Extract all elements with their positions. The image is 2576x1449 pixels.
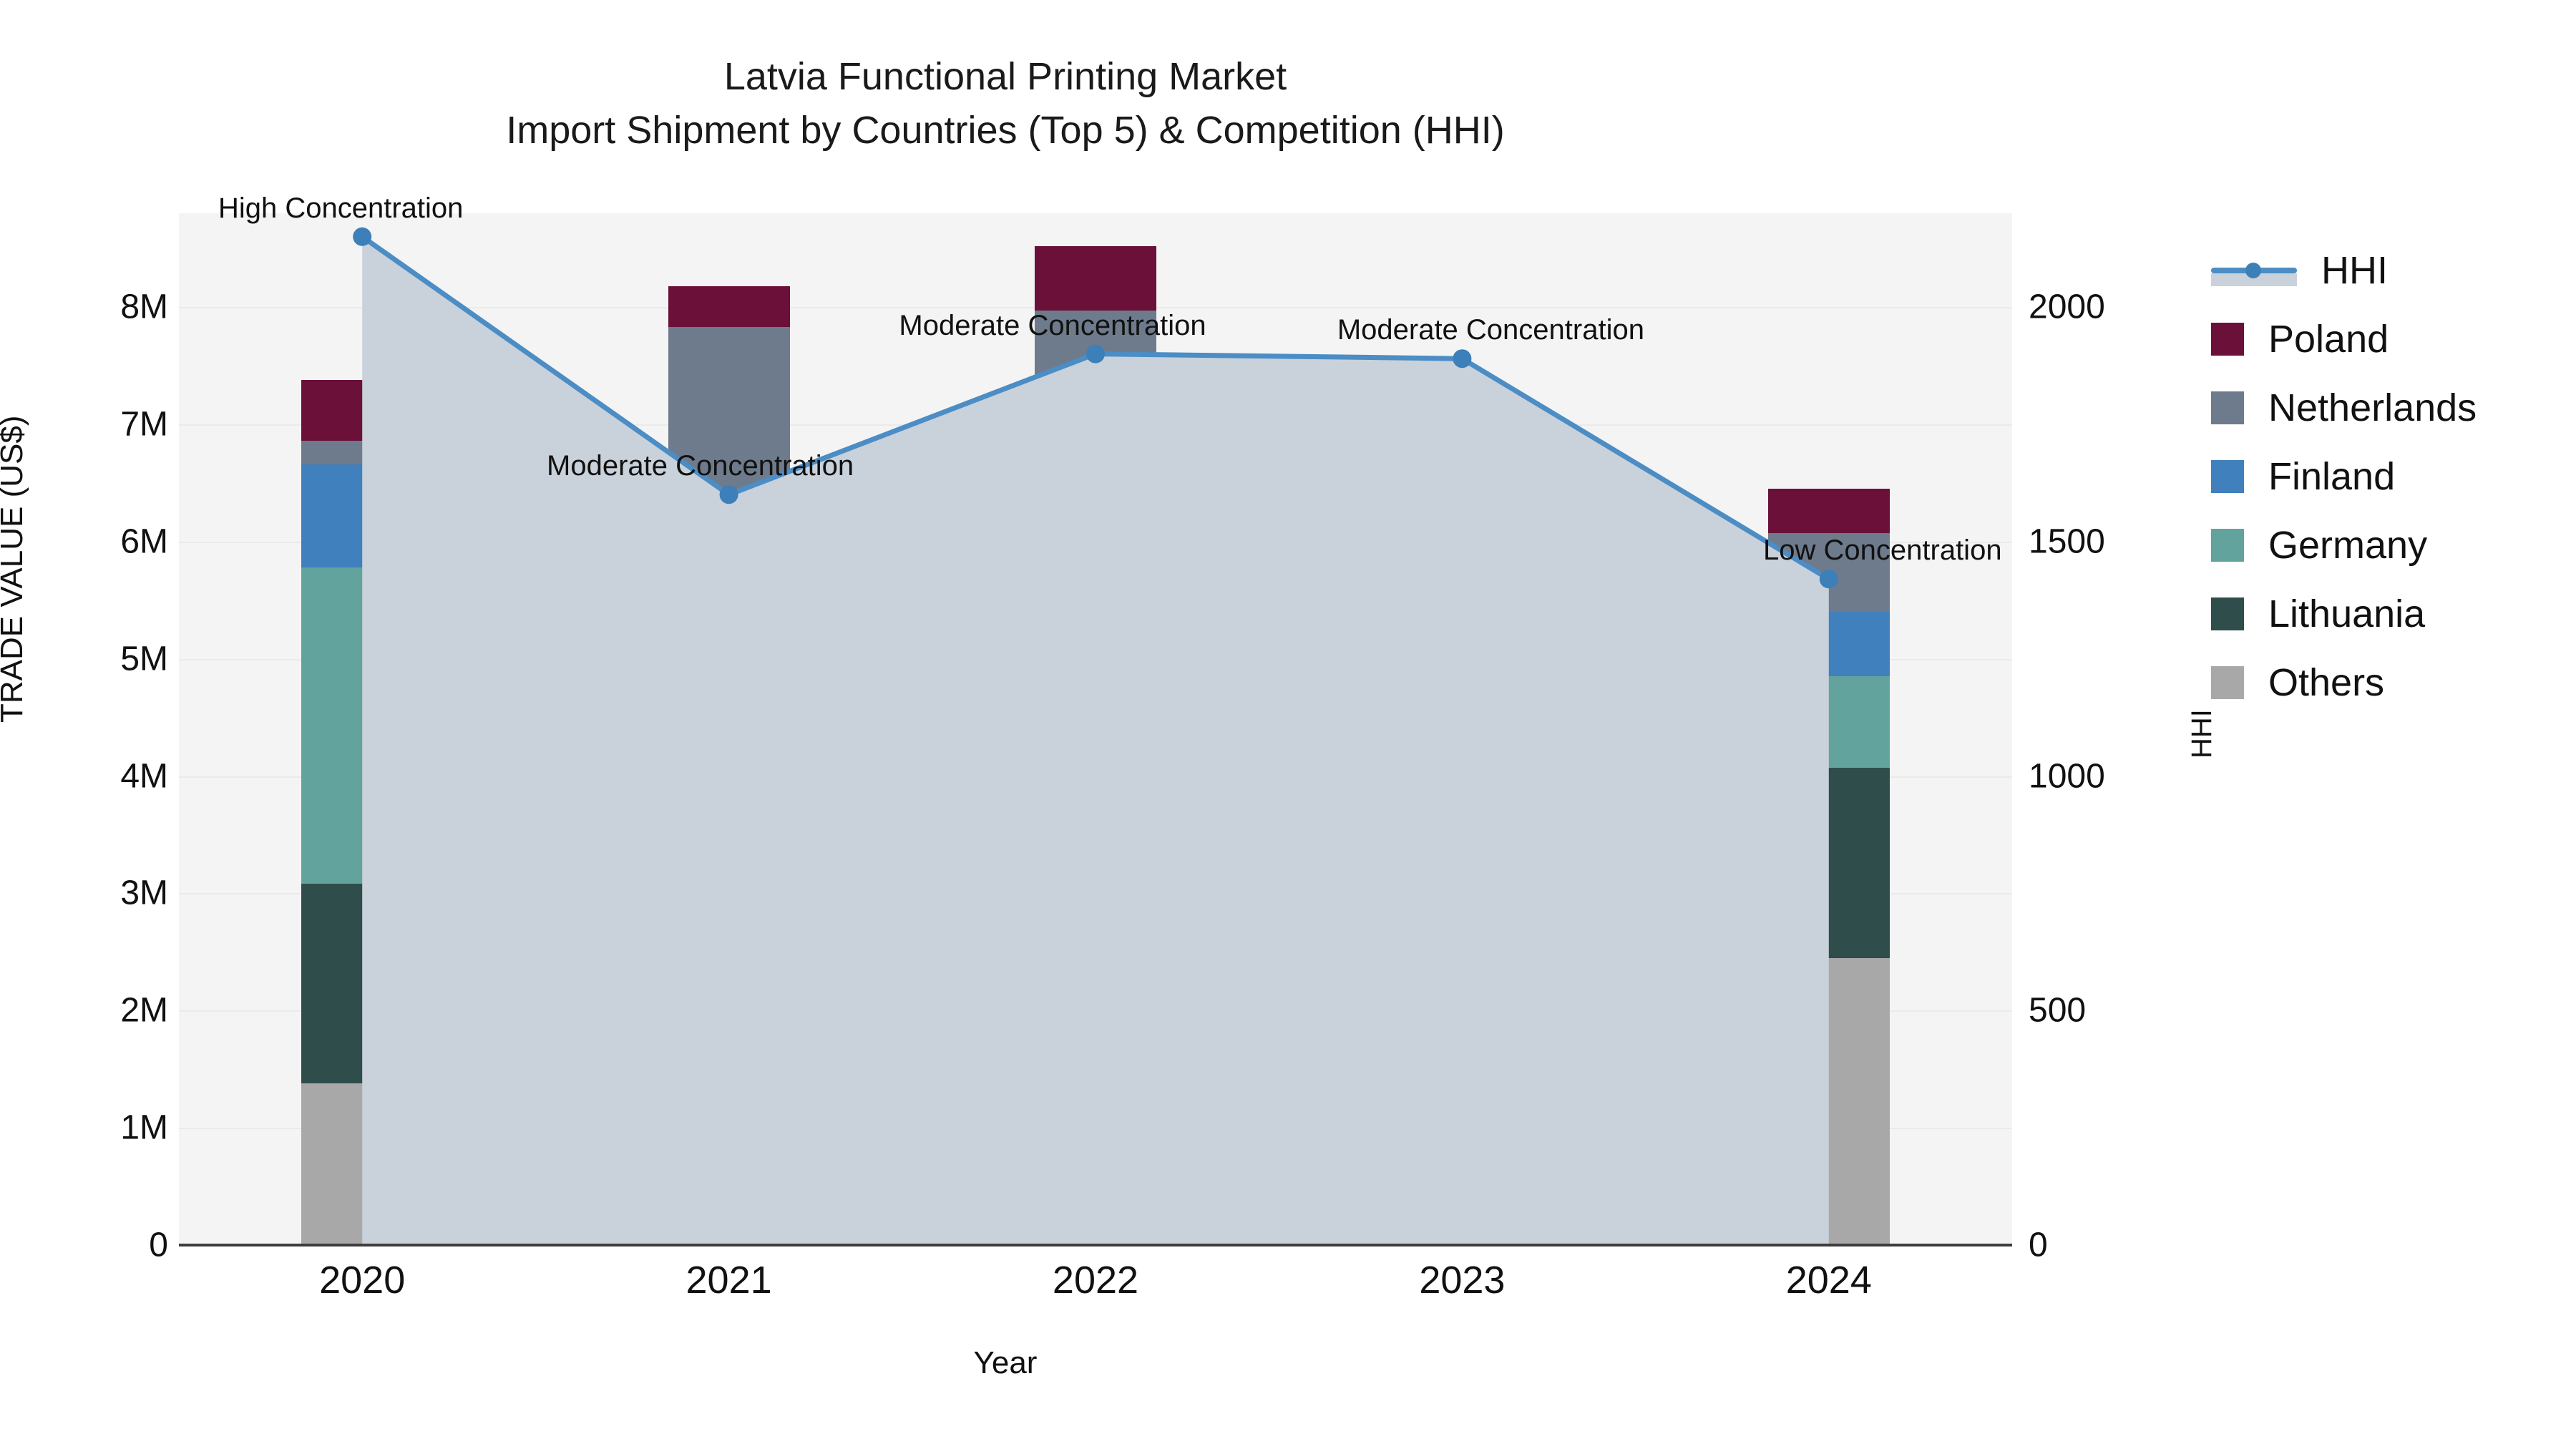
legend-line-swatch <box>2211 254 2297 287</box>
legend-item-label: HHI <box>2321 251 2388 290</box>
plot-area <box>179 213 2012 1245</box>
y-axis-left-tick-label: 1M <box>11 1108 168 1148</box>
legend-marker-dot <box>2245 263 2261 278</box>
y-axis-right-tick-label: 1000 <box>2029 756 2105 796</box>
y-axis-right-tick-label: 1500 <box>2029 522 2105 561</box>
legend-item[interactable]: Germany <box>2211 511 2477 580</box>
y-axis-left-tick-label: 7M <box>11 404 168 444</box>
legend-item-label: Others <box>2268 663 2384 702</box>
legend-item[interactable]: Lithuania <box>2211 580 2477 648</box>
hhi-area-fill <box>362 237 1829 1245</box>
y-axis-left-tick-label: 3M <box>11 874 168 913</box>
y-axis-left-tick-label: 4M <box>11 756 168 796</box>
y-axis-right-tick-label: 2000 <box>2029 288 2105 327</box>
x-axis-tick-label: 2024 <box>1786 1258 1872 1302</box>
legend-color-swatch <box>2211 460 2244 493</box>
legend-item[interactable]: HHI <box>2211 236 2477 305</box>
chart-figure: Latvia Functional Printing Market Import… <box>0 0 2576 1449</box>
legend-color-swatch <box>2211 666 2244 699</box>
legend-item-label: Lithuania <box>2268 595 2425 633</box>
y-axis-left-tick-label: 0 <box>11 1226 168 1265</box>
hhi-marker[interactable] <box>353 228 371 246</box>
chart-title-line-2: Import Shipment by Countries (Top 5) & C… <box>0 104 2011 157</box>
x-axis-tick-label: 2021 <box>686 1258 772 1302</box>
legend-color-swatch <box>2211 529 2244 562</box>
x-axis-line <box>179 1244 2012 1246</box>
x-axis-label: Year <box>0 1345 2011 1381</box>
hhi-annotation-label: Low Concentration <box>1763 535 2002 567</box>
y-axis-left-label: TRADE VALUE (US$) <box>0 416 30 723</box>
x-axis-tick-label: 2022 <box>1053 1258 1138 1302</box>
legend-color-swatch <box>2211 391 2244 424</box>
y-axis-left-tick-label: 5M <box>11 639 168 678</box>
hhi-marker[interactable] <box>1453 349 1471 368</box>
hhi-annotation-label: Moderate Concentration <box>1337 314 1644 346</box>
y-axis-right-tick-label: 0 <box>2029 1226 2048 1265</box>
hhi-marker[interactable] <box>1820 570 1838 588</box>
y-axis-left-tick-label: 8M <box>11 288 168 327</box>
legend-item-label: Poland <box>2268 320 2389 358</box>
hhi-marker[interactable] <box>720 485 738 504</box>
legend-item[interactable]: Netherlands <box>2211 374 2477 442</box>
legend-color-swatch <box>2211 597 2244 630</box>
hhi-marker[interactable] <box>1086 345 1105 364</box>
legend-item[interactable]: Poland <box>2211 305 2477 374</box>
hhi-annotation-label: High Concentration <box>218 192 463 225</box>
legend-item-label: Germany <box>2268 526 2427 565</box>
legend-color-swatch <box>2211 323 2244 356</box>
legend-item-label: Finland <box>2268 457 2395 496</box>
x-axis-tick-label: 2023 <box>1419 1258 1505 1302</box>
legend: HHIPolandNetherlandsFinlandGermanyLithua… <box>2211 236 2477 717</box>
chart-title-line-1: Latvia Functional Printing Market <box>0 50 2011 104</box>
hhi-annotation-label: Moderate Concentration <box>899 310 1206 342</box>
hhi-annotation-label: Moderate Concentration <box>547 450 854 482</box>
x-axis-tick-label: 2020 <box>319 1258 405 1302</box>
y-axis-left-tick-label: 6M <box>11 522 168 561</box>
y-axis-right-tick-label: 500 <box>2029 991 2086 1030</box>
legend-item[interactable]: Others <box>2211 648 2477 717</box>
y-axis-left-tick-label: 2M <box>11 991 168 1030</box>
chart-title: Latvia Functional Printing Market Import… <box>0 50 2011 157</box>
hhi-line-series <box>179 213 2012 1245</box>
legend-item[interactable]: Finland <box>2211 442 2477 511</box>
legend-item-label: Netherlands <box>2268 389 2477 427</box>
